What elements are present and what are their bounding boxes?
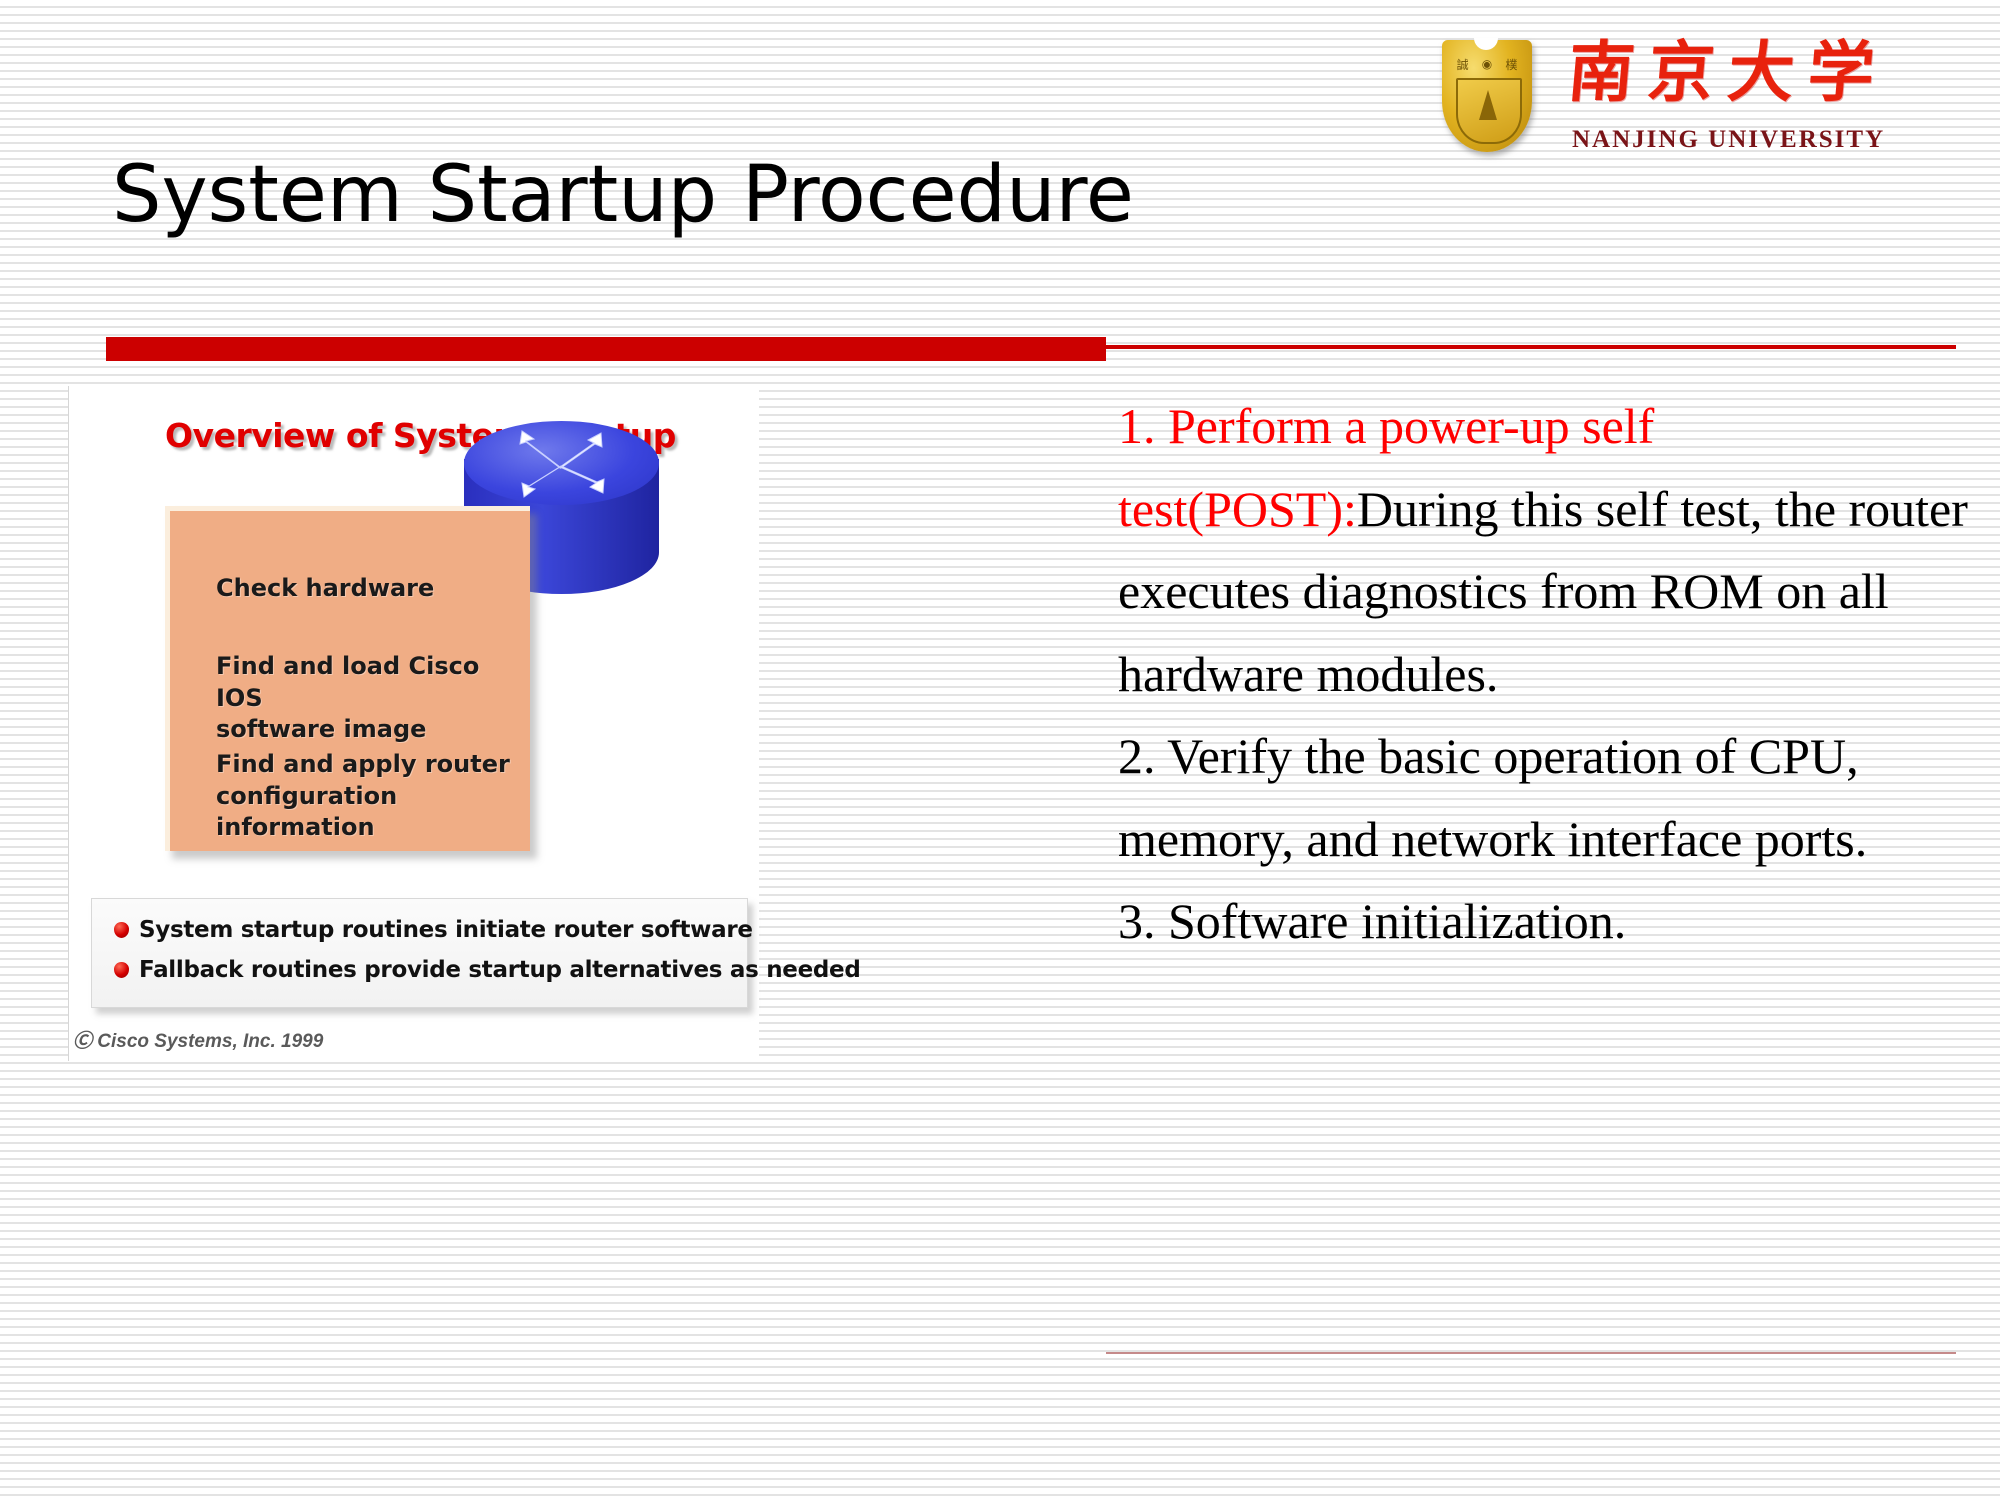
body-item-1: 1. Perform a power-up self test(POST):Du…: [1118, 385, 1968, 715]
bullet-dot-icon: [114, 922, 129, 938]
list-item: Fallback routines provide startup altern…: [114, 957, 861, 983]
bullet-label: Fallback routines provide startup altern…: [139, 957, 861, 983]
body-item-3: 3. Software initialization.: [1118, 880, 1968, 963]
bullet-label: System startup routines initiate router …: [139, 917, 753, 943]
bullet-dot-icon: [114, 962, 129, 978]
university-logo: 誠◉樸 南京大学 NANJING UNIVERSITY: [1440, 38, 1960, 158]
nanjing-university-crest-icon: 誠◉樸: [1440, 38, 1536, 156]
university-name-chinese: 南京大学: [1565, 40, 1891, 106]
body-item-2: 2. Verify the basic operation of CPU, me…: [1118, 715, 1968, 880]
title-underline-rule: [1106, 345, 1956, 349]
process-line-3b: configuration information: [216, 781, 530, 844]
crest-pagoda-icon: [1479, 90, 1497, 120]
router-arrows-icon: [464, 421, 659, 511]
process-box: Check hardware Find and load Cisco IOS s…: [165, 506, 530, 851]
process-line-2b: software image: [216, 714, 530, 746]
figure-bullet-panel: System startup routines initiate router …: [91, 898, 748, 1008]
list-item: System startup routines initiate router …: [114, 917, 753, 943]
title-underline-bar: [106, 337, 1106, 361]
body-content: 1. Perform a power-up self test(POST):Du…: [1118, 385, 1968, 963]
crest-glyphs: 誠◉樸: [1450, 54, 1524, 74]
process-line-2: Find and load Cisco IOS software image: [216, 651, 530, 746]
content-bottom-rule: [1106, 1352, 1956, 1354]
process-line-2a: Find and load Cisco IOS: [216, 651, 530, 714]
process-line-1: Check hardware: [216, 573, 434, 605]
process-line-3: Find and apply router configuration info…: [216, 749, 530, 844]
process-line-3a: Find and apply router: [216, 749, 530, 781]
slide-canvas: 誠◉樸 南京大学 NANJING UNIVERSITY System Start…: [0, 0, 2000, 1500]
figure-copyright: Ⓒ Cisco Systems, Inc. 1999: [73, 1026, 323, 1053]
figure-overview-of-system-startup: Overview of System Startup Check hardwar…: [68, 386, 759, 1061]
university-name-english: NANJING UNIVERSITY: [1572, 126, 1885, 154]
page-title: System Startup Procedure: [112, 155, 1412, 237]
